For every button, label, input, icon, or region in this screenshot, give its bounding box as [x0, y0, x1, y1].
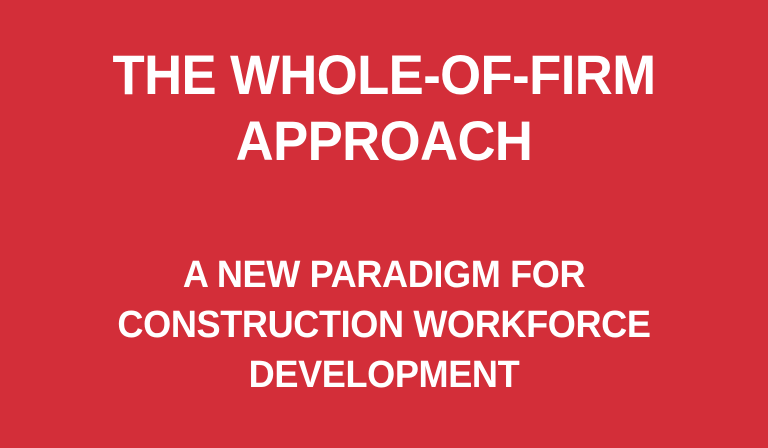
title-block: THE WHOLE-OF-FIRM APPROACH [0, 42, 768, 174]
title-line-1: THE WHOLE-OF-FIRM [23, 42, 745, 108]
subtitle-block: A NEW PARADIGM FOR CONSTRUCTION WORKFORC… [0, 250, 768, 400]
title-line-2: APPROACH [23, 108, 745, 174]
subtitle-line-2: CONSTRUCTION WORKFORCE [19, 300, 749, 350]
title-slide: THE WHOLE-OF-FIRM APPROACH A NEW PARADIG… [0, 0, 768, 448]
subtitle-line-1: A NEW PARADIGM FOR [19, 250, 749, 300]
subtitle-line-3: DEVELOPMENT [19, 350, 749, 400]
